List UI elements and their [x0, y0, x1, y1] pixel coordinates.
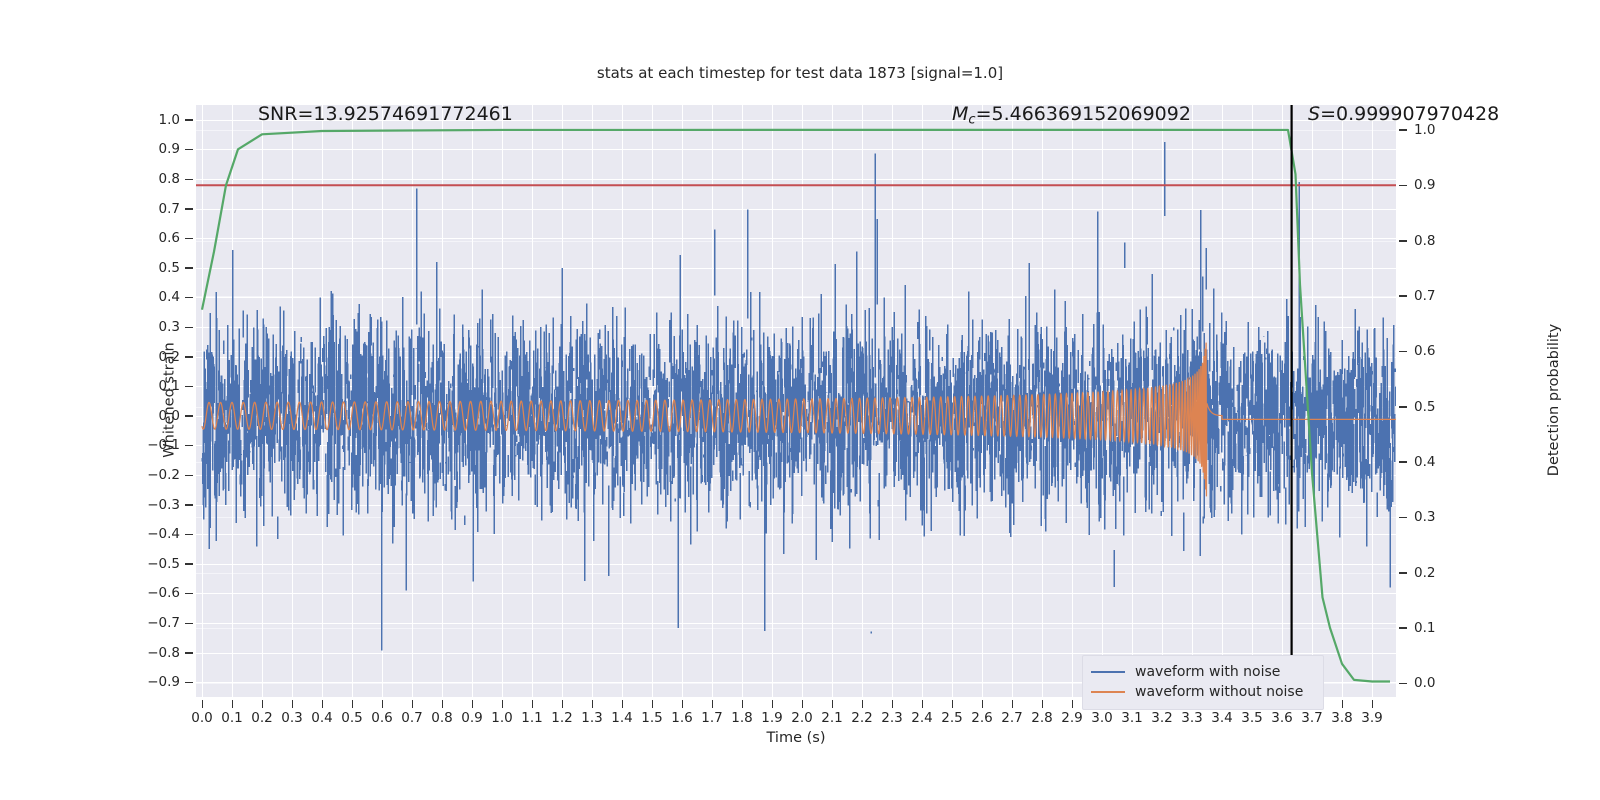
x-tick-label: 2.7 [1001, 710, 1022, 726]
y-tick-mark-right [1399, 240, 1407, 242]
y-tick-mark-left [185, 623, 193, 625]
x-axis-label: Time (s) [196, 730, 1396, 746]
y-tick-mark-right [1399, 185, 1407, 187]
x-tick-label: 3.7 [1301, 710, 1322, 726]
y-tick-label-left: −0.2 [147, 467, 180, 483]
x-tick-mark [502, 700, 504, 708]
y-tick-label-right: 0.6 [1414, 343, 1435, 359]
y-tick-mark-left [185, 267, 193, 269]
x-tick-label: 1.6 [671, 710, 692, 726]
x-tick-label: 3.3 [1181, 710, 1202, 726]
y-tick-label-left: 0.7 [159, 201, 180, 217]
legend-label-without-noise: waveform without noise [1135, 684, 1303, 700]
x-tick-mark [1372, 700, 1374, 708]
x-tick-mark [772, 700, 774, 708]
x-tick-mark [352, 700, 354, 708]
series-waveform-with-noise [202, 142, 1396, 651]
x-tick-mark [1042, 700, 1044, 708]
y-tick-mark-right [1399, 461, 1407, 463]
x-tick-label: 0.5 [341, 710, 362, 726]
y-tick-label-left: 1.0 [159, 112, 180, 128]
x-tick-mark [802, 700, 804, 708]
x-tick-label: 0.4 [311, 710, 332, 726]
y-tick-label-left: 0.4 [159, 289, 180, 305]
y-tick-label-left: −0.6 [147, 585, 180, 601]
x-tick-mark [592, 700, 594, 708]
chart-title: stats at each timestep for test data 187… [0, 64, 1600, 82]
annotation-mc-subscript: c [968, 112, 975, 127]
x-tick-label: 2.8 [1031, 710, 1052, 726]
x-tick-mark [1072, 700, 1074, 708]
annotation-snr: SNR=13.92574691772461 [258, 103, 513, 125]
y-tick-label-left: −0.5 [147, 556, 180, 572]
y-tick-mark-left [185, 415, 193, 417]
y-tick-label-left: −0.8 [147, 645, 180, 661]
x-tick-mark [472, 700, 474, 708]
y-tick-mark-left [185, 327, 193, 329]
annotation-chirp-mass: Mc=5.466369152069092 [952, 103, 1191, 127]
y-tick-label-left: −0.9 [147, 674, 180, 690]
x-tick-label: 3.6 [1271, 710, 1292, 726]
annotation-mc-value: =5.466369152069092 [976, 103, 1191, 125]
y-tick-mark-left [185, 208, 193, 210]
y-tick-label-right: 0.4 [1414, 454, 1435, 470]
x-tick-mark [952, 700, 954, 708]
legend-label-with-noise: waveform with noise [1135, 664, 1280, 680]
x-tick-label: 0.0 [191, 710, 212, 726]
x-tick-label: 1.4 [611, 710, 632, 726]
y-tick-mark-left [185, 179, 193, 181]
y-tick-label-right: 0.7 [1414, 288, 1435, 304]
x-tick-mark [292, 700, 294, 708]
x-tick-label: 3.8 [1331, 710, 1352, 726]
y-tick-mark-left [185, 593, 193, 595]
x-tick-label: 0.7 [401, 710, 422, 726]
y-tick-label-right: 0.1 [1414, 620, 1435, 636]
y-tick-mark-left [185, 238, 193, 240]
y-tick-label-right: 0.2 [1414, 565, 1435, 581]
x-tick-mark [652, 700, 654, 708]
x-tick-mark [382, 700, 384, 708]
x-tick-mark [442, 700, 444, 708]
annotation-s-symbol: S [1308, 103, 1320, 125]
x-tick-label: 2.3 [881, 710, 902, 726]
x-tick-label: 1.2 [551, 710, 572, 726]
legend-swatch-with-noise [1091, 671, 1125, 673]
x-tick-label: 2.0 [791, 710, 812, 726]
x-tick-label: 1.7 [701, 710, 722, 726]
x-tick-label: 2.5 [941, 710, 962, 726]
y-tick-label-left: −0.3 [147, 497, 180, 513]
y-tick-label-left: 0.8 [159, 171, 180, 187]
x-tick-label: 1.3 [581, 710, 602, 726]
x-tick-mark [1342, 700, 1344, 708]
y-tick-label-left: 0.3 [159, 319, 180, 335]
x-tick-label: 2.4 [911, 710, 932, 726]
x-tick-mark [682, 700, 684, 708]
plot-area [196, 105, 1396, 697]
x-tick-label: 2.9 [1061, 710, 1082, 726]
x-tick-mark [232, 700, 234, 708]
y-tick-mark-right [1399, 683, 1407, 685]
y-tick-label-left: 0.9 [159, 141, 180, 157]
legend: waveform with noise waveform without noi… [1082, 655, 1324, 710]
legend-item-with-noise: waveform with noise [1091, 662, 1315, 682]
x-tick-mark [832, 700, 834, 708]
x-tick-label: 2.1 [821, 710, 842, 726]
y-tick-mark-left [185, 652, 193, 654]
y-tick-mark-left [185, 682, 193, 684]
x-tick-mark [262, 700, 264, 708]
x-tick-label: 2.6 [971, 710, 992, 726]
y-tick-mark-left [185, 534, 193, 536]
x-tick-label: 0.1 [221, 710, 242, 726]
x-tick-label: 3.1 [1121, 710, 1142, 726]
y-tick-mark-left [185, 119, 193, 121]
x-tick-mark [922, 700, 924, 708]
x-tick-label: 0.9 [461, 710, 482, 726]
data-layer [196, 105, 1396, 697]
annotation-mc-symbol: M [952, 103, 968, 125]
x-tick-mark [562, 700, 564, 708]
y-tick-label-left: −0.4 [147, 526, 180, 542]
y-axis-label-right: Detection probability [1546, 324, 1562, 476]
y-tick-mark-left [185, 386, 193, 388]
y-tick-mark-left [185, 563, 193, 565]
x-tick-mark [742, 700, 744, 708]
y-tick-label-left: −0.7 [147, 615, 180, 631]
y-tick-mark-left [185, 297, 193, 299]
x-tick-mark [322, 700, 324, 708]
y-tick-mark-left [185, 475, 193, 477]
x-tick-label: 3.9 [1361, 710, 1382, 726]
x-tick-mark [532, 700, 534, 708]
annotation-s-value: =0.999907970428 [1320, 103, 1499, 125]
legend-swatch-without-noise [1091, 691, 1125, 693]
y-axis-label-left: Whitened strain [162, 342, 178, 457]
x-tick-label: 3.2 [1151, 710, 1172, 726]
annotation-score: S=0.999907970428 [1308, 103, 1499, 125]
y-tick-label-right: 0.0 [1414, 675, 1435, 691]
y-tick-label-left: 0.6 [159, 230, 180, 246]
y-tick-label-right: 0.3 [1414, 509, 1435, 525]
x-tick-label: 0.2 [251, 710, 272, 726]
y-tick-mark-right [1399, 129, 1407, 131]
x-tick-mark [712, 700, 714, 708]
y-tick-mark-right [1399, 517, 1407, 519]
x-tick-label: 1.5 [641, 710, 662, 726]
y-tick-mark-left [185, 149, 193, 151]
legend-item-without-noise: waveform without noise [1091, 682, 1315, 702]
x-tick-label: 0.3 [281, 710, 302, 726]
x-tick-label: 3.5 [1241, 710, 1262, 726]
y-tick-mark-right [1399, 627, 1407, 629]
x-tick-mark [622, 700, 624, 708]
y-tick-label-right: 0.5 [1414, 399, 1435, 415]
y-tick-mark-right [1399, 351, 1407, 353]
y-tick-label-right: 0.8 [1414, 233, 1435, 249]
x-tick-mark [1012, 700, 1014, 708]
x-tick-mark [412, 700, 414, 708]
y-tick-mark-left [185, 445, 193, 447]
x-tick-label: 0.8 [431, 710, 452, 726]
y-tick-mark-right [1399, 572, 1407, 574]
x-tick-label: 3.4 [1211, 710, 1232, 726]
x-tick-label: 2.2 [851, 710, 872, 726]
x-tick-label: 3.0 [1091, 710, 1112, 726]
x-tick-mark [202, 700, 204, 708]
x-tick-label: 0.6 [371, 710, 392, 726]
x-tick-mark [862, 700, 864, 708]
y-tick-mark-right [1399, 406, 1407, 408]
x-tick-label: 1.0 [491, 710, 512, 726]
x-tick-label: 1.9 [761, 710, 782, 726]
y-tick-label-right: 0.9 [1414, 177, 1435, 193]
x-tick-mark [982, 700, 984, 708]
x-tick-label: 1.8 [731, 710, 752, 726]
y-tick-label-left: 0.5 [159, 260, 180, 276]
x-tick-label: 1.1 [521, 710, 542, 726]
x-tick-mark [892, 700, 894, 708]
y-tick-mark-left [185, 504, 193, 506]
y-tick-mark-left [185, 356, 193, 358]
y-tick-mark-right [1399, 295, 1407, 297]
